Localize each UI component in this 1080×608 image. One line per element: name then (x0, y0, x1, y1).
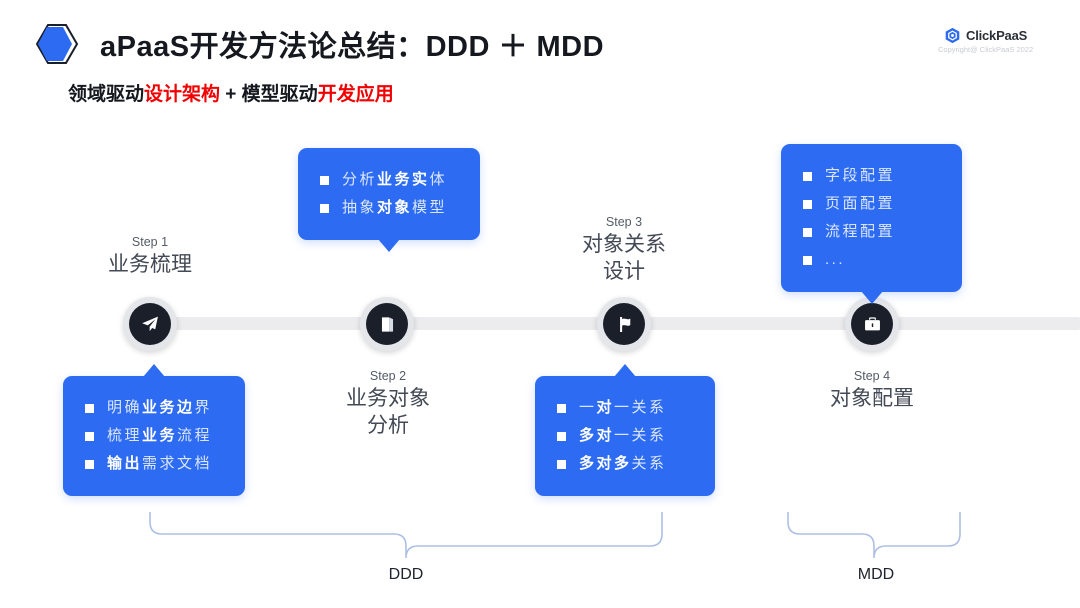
subtitle-part-4-highlight: 开发应用 (318, 84, 394, 105)
step-caption-4: Step 4 对象配置 (787, 368, 957, 412)
step-number-3: Step 3 (539, 214, 709, 231)
step-caption-1: Step 1 业务梳理 (65, 234, 235, 278)
timeline-node-step1-inner (129, 303, 171, 345)
step-name-2: 业务对象 分析 (303, 385, 473, 439)
brand-name: ClickPaaS (966, 28, 1027, 43)
card-item-strong: 业务实 (377, 166, 430, 194)
card-item: 输出需求文档 (85, 450, 225, 478)
step-name-3: 对象关系 设计 (539, 231, 709, 285)
card-item-post: 页面配置 (825, 190, 895, 218)
bullet-square-icon (85, 432, 94, 441)
brace-label-mdd: MDD (776, 566, 976, 584)
bullet-square-icon (803, 200, 812, 209)
bullet-square-icon (85, 404, 94, 413)
page-header: aPaaS开发方法论总结：DDD ＋ MDD 领域驱动设计架构 + 模型驱动开发… (0, 0, 1080, 120)
card-item-post: 一关系 (614, 422, 667, 450)
flag-icon (615, 315, 634, 334)
card-item-strong: 对 (597, 394, 615, 422)
step-number-1: Step 1 (65, 234, 235, 251)
card-tail (143, 364, 165, 377)
briefcase-icon (863, 315, 882, 334)
bullet-square-icon (557, 432, 566, 441)
paper-plane-icon (140, 314, 160, 334)
step-caption-3: Step 3 对象关系 设计 (539, 214, 709, 285)
page-subtitle: 领域驱动设计架构 + 模型驱动开发应用 (68, 79, 394, 106)
callout-card-step1: 明确业务边界 梳理业务流程 输出需求文档 (63, 376, 245, 496)
card-item-strong: 对象 (377, 194, 412, 222)
timeline-node-step4-inner (851, 303, 893, 345)
timeline-node-step2[interactable] (360, 297, 414, 351)
card-item-post: 关系 (632, 450, 667, 478)
card-item-post: 模型 (412, 194, 447, 222)
card-item-strong: 业务 (142, 422, 177, 450)
card-item-post: 体 (430, 166, 448, 194)
card-item: 多对一关系 (557, 422, 695, 450)
card-item-strong: 输出 (107, 450, 142, 478)
card-item: ... (803, 246, 942, 274)
card-item: 一对一关系 (557, 394, 695, 422)
card-item: 流程配置 (803, 218, 942, 246)
card-tail (614, 364, 636, 377)
bullet-square-icon (803, 228, 812, 237)
card-item-pre: 一 (579, 394, 597, 422)
brace-label-ddd: DDD (306, 566, 506, 584)
card-item-post: 需求文档 (142, 450, 212, 478)
card-item-post: 一关系 (614, 394, 667, 422)
card-item: 字段配置 (803, 162, 942, 190)
card-item-strong: 多对多 (579, 450, 632, 478)
card-tail (861, 291, 883, 304)
timeline-node-step2-inner (366, 303, 408, 345)
brand-copyright: Copyright@ ClickPaaS 2022 (938, 45, 1048, 54)
page-title: aPaaS开发方法论总结：DDD ＋ MDD (100, 23, 604, 65)
bullet-square-icon (803, 256, 812, 265)
card-item-post: ... (825, 246, 845, 274)
card-item-strong: 多对 (579, 422, 614, 450)
card-item-post: 界 (195, 394, 213, 422)
callout-card-step2: 分析业务实体 抽象对象模型 (298, 148, 480, 240)
bullet-square-icon (557, 404, 566, 413)
card-item-pre: 抽象 (342, 194, 377, 222)
callout-card-step3: 一对一关系 多对一关系 多对多关系 (535, 376, 715, 496)
card-item: 多对多关系 (557, 450, 695, 478)
bullet-square-icon (557, 460, 566, 469)
step-name-4: 对象配置 (787, 385, 957, 412)
card-item-pre: 明确 (107, 394, 142, 422)
bullet-square-icon (320, 204, 329, 213)
card-item: 抽象对象模型 (320, 194, 460, 222)
card-item-strong: 业务边 (142, 394, 195, 422)
subtitle-part-1: 领域驱动 (68, 84, 144, 105)
callout-card-step4: 字段配置 页面配置 流程配置 ... (781, 144, 962, 292)
timeline-node-step3[interactable] (597, 297, 651, 351)
card-item-post: 流程 (177, 422, 212, 450)
step-caption-2: Step 2 业务对象 分析 (303, 368, 473, 439)
card-item-pre: 分析 (342, 166, 377, 194)
card-item: 页面配置 (803, 190, 942, 218)
bullet-square-icon (803, 172, 812, 181)
timeline-node-step4[interactable] (845, 297, 899, 351)
step-number-2: Step 2 (303, 368, 473, 385)
subtitle-part-3: + 模型驱动 (220, 84, 318, 105)
step-name-1: 业务梳理 (65, 251, 235, 278)
card-item-post: 字段配置 (825, 162, 895, 190)
card-item-post: 流程配置 (825, 218, 895, 246)
book-icon (378, 315, 397, 334)
card-item-pre: 梳理 (107, 422, 142, 450)
brand-logo: ClickPaaS Copyright@ ClickPaaS 2022 (938, 27, 1048, 61)
card-tail (378, 239, 400, 252)
hexagon-logo-icon (36, 22, 82, 66)
timeline-node-step3-inner (603, 303, 645, 345)
card-item: 明确业务边界 (85, 394, 225, 422)
bullet-square-icon (85, 460, 94, 469)
brace-mdd (786, 512, 966, 560)
card-item: 分析业务实体 (320, 166, 460, 194)
brand-row: ClickPaaS (938, 27, 1048, 44)
step-number-4: Step 4 (787, 368, 957, 385)
brace-ddd (148, 512, 668, 560)
subtitle-part-2-highlight: 设计架构 (144, 84, 220, 105)
bullet-square-icon (320, 176, 329, 185)
timeline-node-step1[interactable] (123, 297, 177, 351)
clickpaas-hex-icon (944, 27, 961, 44)
card-item: 梳理业务流程 (85, 422, 225, 450)
